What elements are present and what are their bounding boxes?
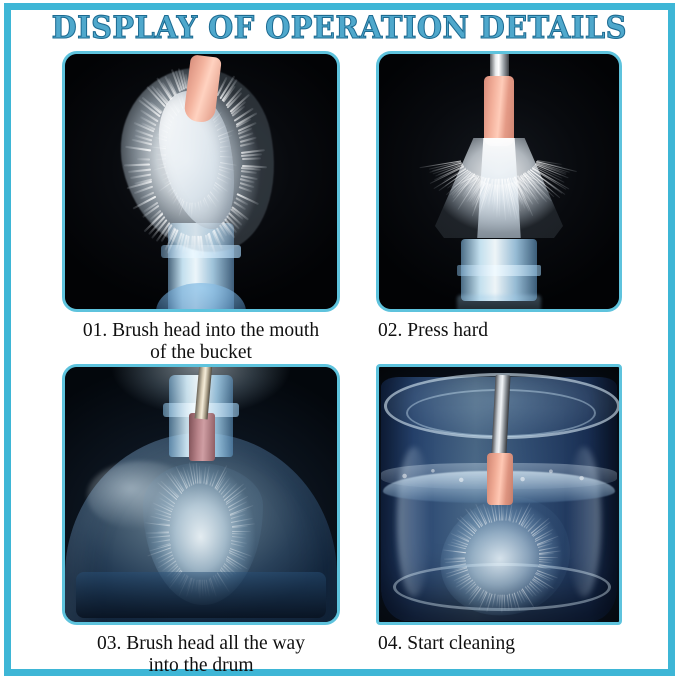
brush-handle-pink: [484, 76, 514, 146]
step-photo-03: [62, 364, 340, 625]
step-caption-04: 04. Start cleaning: [376, 633, 622, 655]
step-photo-02: [376, 51, 622, 312]
step-photo-04: [376, 364, 622, 625]
brush-core: [477, 138, 521, 238]
bottle-neck: [461, 239, 537, 301]
steps-grid: 01. Brush head into the mouth of the buc…: [0, 0, 679, 679]
step-caption-02: 02. Press hard: [376, 320, 622, 342]
step-caption-01: 01. Brush head into the mouth of the buc…: [62, 320, 340, 364]
brush-head-splayed: [435, 138, 563, 238]
step-card-01: 01. Brush head into the mouth of the buc…: [62, 51, 340, 364]
step-card-02: 02. Press hard: [376, 51, 622, 342]
step-card-03: 03. Brush head all the way into the drum: [62, 364, 340, 677]
brush-head: [123, 68, 275, 254]
brush-collar: [189, 413, 215, 461]
step-photo-01: [62, 51, 340, 312]
step-card-04: 04. Start cleaning: [376, 364, 622, 655]
step-caption-03: 03. Brush head all the way into the drum: [62, 633, 340, 677]
jug-base-shadow: [76, 572, 326, 618]
bottle-reflection: [457, 295, 541, 309]
brush-head-cleaning: [439, 499, 571, 615]
infographic-page: DISPLAY OF OPERATION DETAILS 01. Brush h…: [0, 0, 679, 679]
brush-handle-pink: [487, 453, 513, 505]
